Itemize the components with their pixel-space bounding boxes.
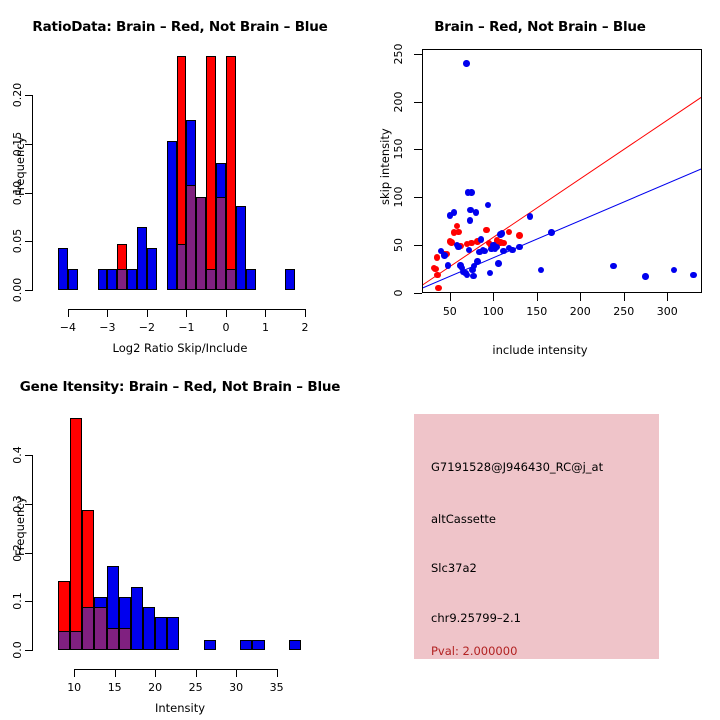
y-tick-mark	[414, 54, 422, 55]
x-tick-mark	[74, 669, 75, 677]
scatter-point-notbrain	[473, 209, 480, 216]
y-tick-mark	[25, 290, 33, 291]
histogram-bar-notbrain	[143, 607, 155, 650]
y-tick-label: 0.00	[11, 273, 25, 307]
y-tick-label: 0.1	[11, 584, 25, 618]
y-tick-mark	[414, 245, 422, 246]
histogram-bar-overlap	[107, 628, 119, 650]
y-tick-mark	[25, 95, 33, 96]
x-tick-label: 250	[604, 305, 644, 318]
scatter-point-notbrain	[642, 273, 649, 280]
panel-x-axis-line	[74, 669, 276, 670]
histogram-bar-notbrain	[147, 248, 157, 290]
y-tick-label: 150	[392, 134, 406, 164]
histogram-bar-brain	[226, 56, 236, 290]
x-tick-mark	[186, 309, 187, 317]
scatter-point-brain	[434, 254, 441, 261]
histogram-bar-overlap	[216, 197, 226, 290]
y-tick-label: 0.15	[11, 127, 25, 161]
scatter-point-notbrain	[463, 60, 470, 67]
histogram-bar-notbrain	[137, 227, 147, 290]
x-tick-label: 0	[206, 321, 246, 334]
scatter-point-notbrain	[455, 244, 462, 251]
scatter-point-notbrain	[516, 244, 523, 251]
scatter-point-notbrain	[441, 252, 448, 259]
histogram-bar-overlap	[70, 631, 82, 651]
x-tick-mark	[667, 293, 668, 301]
histogram-bar-notbrain	[246, 269, 256, 290]
x-tick-mark	[277, 669, 278, 677]
panel2-plot-area: 05010015020025050100150200250300	[360, 0, 720, 360]
x-tick-label: 300	[647, 305, 687, 318]
event-type: altCassette	[431, 512, 496, 526]
histogram-bar-brain	[70, 418, 82, 650]
y-tick-label: 0	[392, 278, 406, 308]
scatter-point-brain	[516, 232, 523, 239]
histogram-bar-notbrain	[155, 617, 167, 650]
histogram-bar-notbrain	[107, 269, 117, 290]
y-tick-mark	[25, 193, 33, 194]
x-tick-mark	[226, 309, 227, 317]
histogram-bar-overlap	[117, 269, 127, 290]
y-tick-mark	[414, 197, 422, 198]
scatter-point-notbrain	[690, 272, 697, 279]
y-tick-label: 200	[392, 87, 406, 117]
histogram-bar-notbrain	[289, 640, 301, 650]
x-tick-label: −3	[87, 321, 127, 334]
histogram-bar-notbrain	[204, 640, 216, 650]
x-tick-mark	[115, 669, 116, 677]
y-tick-label: 0.2	[11, 536, 25, 570]
x-tick-mark	[155, 669, 156, 677]
probe-id: G7191528@J946430_RC@j_at	[431, 460, 603, 474]
x-tick-label: 10	[54, 681, 94, 694]
x-tick-label: −4	[48, 321, 88, 334]
x-tick-label: 35	[257, 681, 297, 694]
y-tick-label: 0.3	[11, 487, 25, 521]
histogram-bar-notbrain	[98, 269, 108, 290]
y-tick-label: 100	[392, 182, 406, 212]
scatter-point-notbrain	[610, 263, 617, 270]
y-tick-mark	[25, 144, 33, 145]
histogram-bar-brain	[206, 56, 216, 290]
y-tick-mark	[25, 553, 33, 554]
histogram-bar-notbrain	[240, 640, 252, 650]
x-tick-label: 20	[135, 681, 175, 694]
histogram-bar-notbrain	[131, 587, 143, 650]
histogram-bar-notbrain	[252, 640, 264, 650]
x-tick-label: 100	[473, 305, 513, 318]
x-tick-label: 1	[245, 321, 285, 334]
annotation-lines: G7191528@J946430_RC@j_ataltCassetteSlc37…	[414, 414, 659, 659]
x-tick-mark	[493, 293, 494, 301]
y-tick-label: 50	[392, 230, 406, 260]
pvalue: Pval: 2.000000	[431, 644, 517, 658]
scatter-point-notbrain	[474, 258, 481, 265]
x-tick-label: 50	[430, 305, 470, 318]
histogram-bar-notbrain	[285, 269, 295, 290]
x-tick-mark	[537, 293, 538, 301]
scatter-point-notbrain	[527, 213, 534, 220]
scatter-point-notbrain	[470, 273, 477, 280]
y-tick-label: 250	[392, 39, 406, 69]
histogram-bar-notbrain	[236, 206, 246, 290]
histogram-bar-overlap	[177, 244, 187, 290]
histogram-bar-overlap	[82, 607, 94, 650]
x-tick-label: 15	[95, 681, 135, 694]
x-tick-label: 30	[216, 681, 256, 694]
y-tick-label: 0.4	[11, 438, 25, 472]
y-tick-mark	[414, 102, 422, 103]
scatter-point-notbrain	[509, 247, 516, 254]
panel-ratio-histogram: RatioData: Brain – Red, Not Brain – Blue…	[0, 0, 360, 360]
y-tick-label: 0.0	[11, 633, 25, 667]
y-tick-mark	[414, 149, 422, 150]
y-tick-label: 0.20	[11, 78, 25, 112]
x-tick-label: 150	[517, 305, 557, 318]
y-tick-label: 0.10	[11, 176, 25, 210]
histogram-bar-notbrain	[167, 141, 177, 290]
scatter-point-notbrain	[445, 262, 452, 269]
histogram-bar-overlap	[94, 607, 106, 650]
y-tick-mark	[25, 650, 33, 651]
x-tick-mark	[107, 309, 108, 317]
histogram-bar-notbrain	[58, 248, 68, 290]
scatter-point-notbrain	[548, 229, 555, 236]
x-tick-label: 25	[176, 681, 216, 694]
gene-symbol: Slc37a2	[431, 561, 477, 575]
scatter-point-brain	[506, 229, 513, 236]
y-tick-mark	[25, 504, 33, 505]
scatter-point-notbrain	[487, 270, 494, 277]
x-tick-mark	[196, 669, 197, 677]
histogram-bar-notbrain	[127, 269, 137, 290]
x-tick-mark	[147, 309, 148, 317]
locus: chr9.25799–2.1	[431, 611, 521, 625]
x-tick-mark	[68, 309, 69, 317]
histogram-bar-overlap	[58, 631, 70, 651]
scatter-point-notbrain	[478, 236, 485, 243]
histogram-bar-overlap	[226, 269, 236, 290]
y-tick-mark	[25, 601, 33, 602]
y-tick-mark	[25, 455, 33, 456]
x-tick-label: 200	[560, 305, 600, 318]
scatter-point-notbrain	[468, 189, 475, 196]
x-tick-mark	[624, 293, 625, 301]
scatter-point-brain	[434, 272, 441, 279]
histogram-bar-overlap	[206, 269, 216, 290]
x-tick-label: 2	[285, 321, 325, 334]
y-tick-mark	[25, 241, 33, 242]
x-tick-mark	[450, 293, 451, 301]
histogram-bar-overlap	[186, 185, 196, 290]
x-tick-mark	[305, 309, 306, 317]
scatter-point-notbrain	[481, 248, 488, 255]
scatter-point-notbrain	[499, 230, 506, 237]
scatter-point-brain	[455, 229, 462, 236]
x-tick-label: −2	[127, 321, 167, 334]
histogram-bar-notbrain	[167, 617, 179, 650]
histogram-bar-notbrain	[68, 269, 78, 290]
panel-intensity-scatter: Brain – Red, Not Brain – Blue skip inten…	[360, 0, 720, 360]
scatter-point-notbrain	[467, 217, 474, 224]
y-tick-mark	[414, 293, 422, 294]
panel1-plot-area: 0.000.050.100.150.20−4−3−2−1012	[0, 0, 360, 360]
x-tick-mark	[265, 309, 266, 317]
x-tick-mark	[580, 293, 581, 301]
panel-annotation-box: G7191528@J946430_RC@j_ataltCassetteSlc37…	[414, 414, 659, 659]
figure-canvas: RatioData: Brain – Red, Not Brain – Blue…	[0, 0, 720, 720]
x-tick-label: −1	[166, 321, 206, 334]
histogram-bar-overlap	[196, 197, 206, 290]
y-tick-label: 0.05	[11, 224, 25, 258]
scatter-point-brain	[483, 227, 490, 234]
panel-gene-intensity-histogram: Gene Itensity: Brain – Red, Not Brain – …	[0, 360, 360, 720]
histogram-bar-overlap	[119, 628, 131, 650]
x-tick-mark	[236, 669, 237, 677]
panel3-plot-area: 0.00.10.20.30.4101520253035	[0, 360, 360, 720]
scatter-point-notbrain	[495, 260, 502, 267]
